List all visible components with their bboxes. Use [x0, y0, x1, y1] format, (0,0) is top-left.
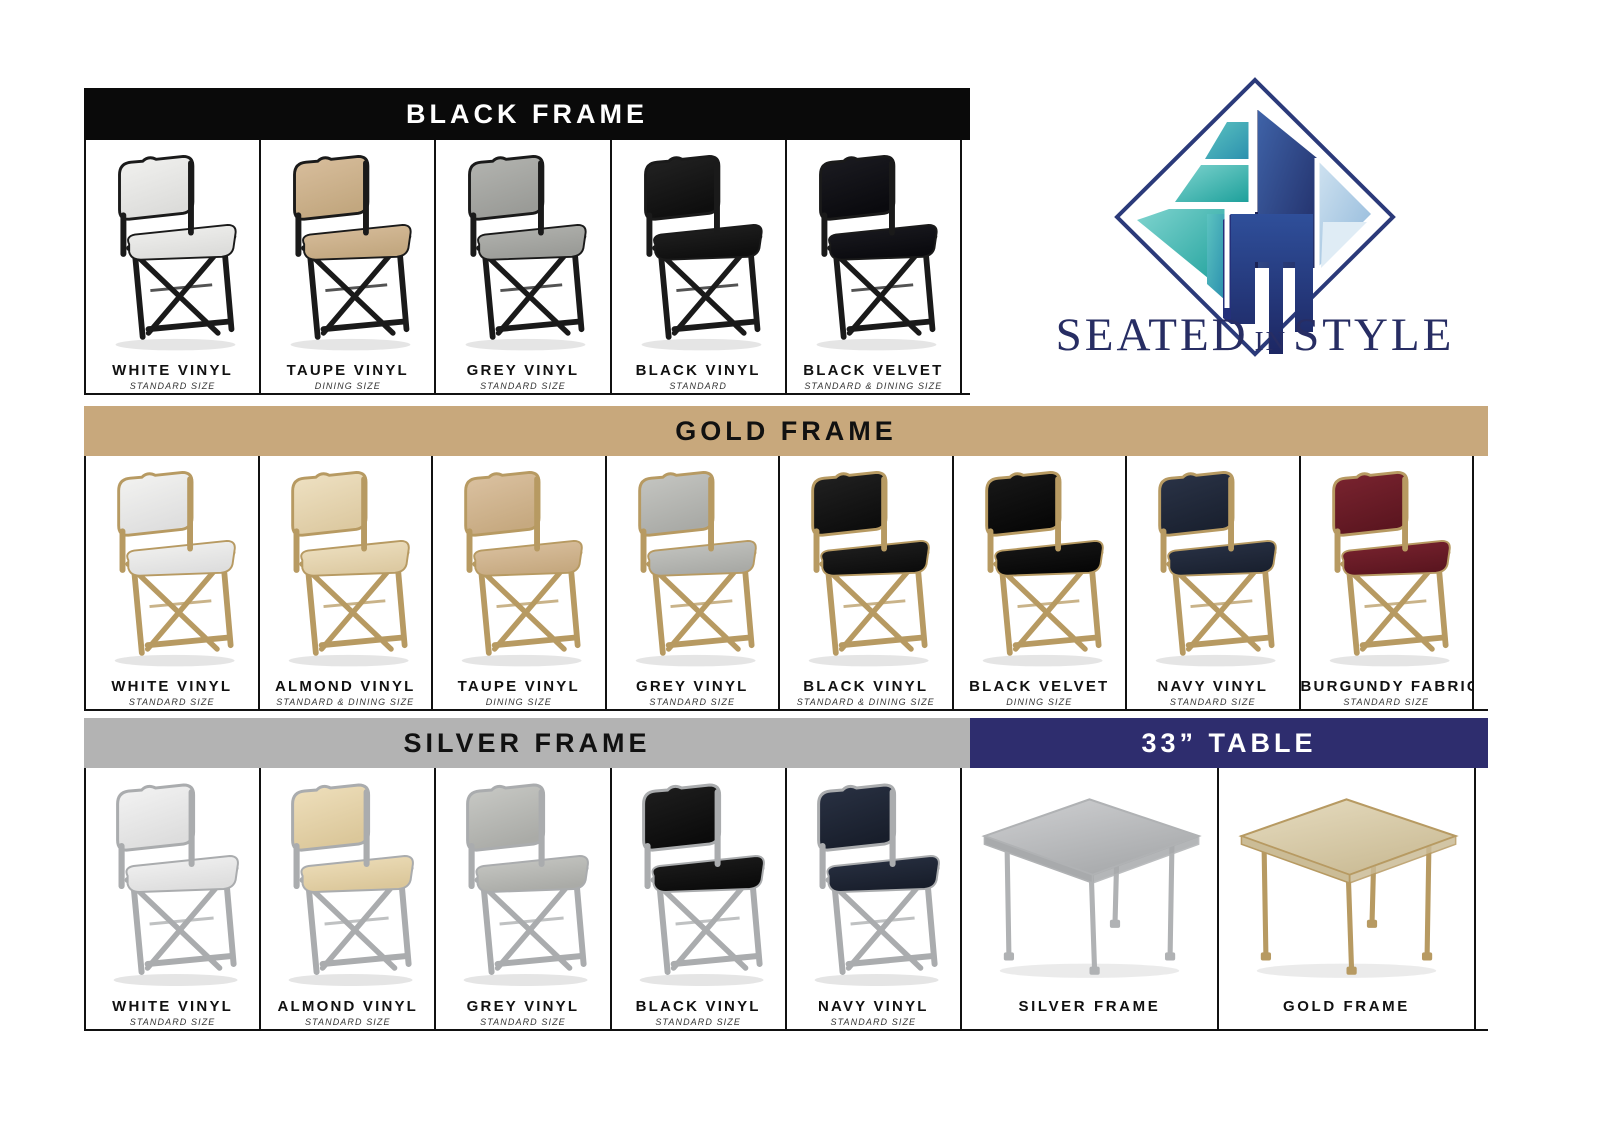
product-caption: TAUPE VINYL DINING SIZE — [433, 678, 605, 709]
product-thumbnail — [1127, 456, 1299, 678]
chair-image — [1127, 456, 1299, 678]
product-caption: GREY VINYL STANDARD SIZE — [436, 998, 609, 1029]
brand-name-part2: IN — [1249, 326, 1294, 356]
product-cell[interactable]: BLACK VELVET STANDARD & DINING SIZE — [785, 140, 962, 393]
product-caption: GREY VINYL STANDARD SIZE — [436, 362, 609, 393]
product-thumbnail — [607, 456, 779, 678]
product-size: STANDARD & DINING SIZE — [780, 697, 952, 707]
product-cell[interactable]: GREY VINYL STANDARD SIZE — [605, 456, 781, 709]
product-caption: BLACK VINYL STANDARD & DINING SIZE — [780, 678, 952, 709]
product-thumbnail — [260, 456, 432, 678]
chair-image — [607, 456, 779, 678]
product-cell[interactable]: ALMOND VINYL STANDARD & DINING SIZE — [258, 456, 434, 709]
product-cell[interactable]: WHITE VINYL STANDARD SIZE — [84, 140, 261, 393]
section-black-frame: BLACK FRAME — [84, 88, 970, 395]
product-cell[interactable]: BURGUNDY FABRIC STANDARD SIZE — [1299, 456, 1475, 709]
product-name: GREY VINYL — [607, 678, 779, 695]
product-size: STANDARD SIZE — [261, 1017, 434, 1027]
product-size: STANDARD & DINING SIZE — [260, 697, 432, 707]
product-caption: WHITE VINYL STANDARD SIZE — [86, 998, 259, 1029]
table-thumbnail — [962, 768, 1217, 998]
product-caption: WHITE VINYL STANDARD SIZE — [86, 678, 258, 709]
chair-image — [261, 768, 434, 998]
product-name: BLACK VINYL — [612, 998, 785, 1015]
product-caption: GREY VINYL STANDARD SIZE — [607, 678, 779, 709]
chair-image — [261, 140, 434, 362]
product-name: ALMOND VINYL — [261, 998, 434, 1015]
product-thumbnail — [787, 140, 960, 362]
section-header-black-frame: BLACK FRAME — [84, 88, 970, 140]
product-thumbnail — [261, 140, 434, 362]
chair-image — [787, 140, 960, 362]
section-gold-frame: GOLD FRAME — [84, 406, 1488, 711]
brand-name-part1: SEATED — [1056, 309, 1249, 361]
product-name: NAVY VINYL — [787, 998, 960, 1015]
product-size: STANDARD SIZE — [436, 1017, 609, 1027]
product-caption: BLACK VELVET DINING SIZE — [954, 678, 1126, 709]
product-size: DINING SIZE — [954, 697, 1126, 707]
product-size: STANDARD SIZE — [86, 1017, 259, 1027]
product-cell[interactable]: WHITE VINYL STANDARD SIZE — [84, 768, 261, 1029]
section-header-gold-frame: GOLD FRAME — [84, 406, 1488, 456]
product-size: STANDARD — [612, 381, 785, 391]
section-header-table: 33” TABLE — [970, 718, 1488, 768]
table-cell[interactable]: SILVER FRAME — [960, 768, 1219, 1029]
product-thumbnail — [787, 768, 960, 998]
table-caption: GOLD FRAME — [1219, 998, 1474, 1029]
brand-logo: SEATEDINSTYLE — [1055, 62, 1455, 382]
product-size: STANDARD SIZE — [436, 381, 609, 391]
product-caption: WHITE VINYL STANDARD SIZE — [86, 362, 259, 393]
product-name: TAUPE VINYL — [433, 678, 605, 695]
product-cell[interactable]: BLACK VINYL STANDARD — [610, 140, 787, 393]
chair-image — [433, 456, 605, 678]
product-size: STANDARD SIZE — [612, 1017, 785, 1027]
product-cell[interactable]: WHITE VINYL STANDARD SIZE — [84, 456, 260, 709]
product-caption: BLACK VINYL STANDARD — [612, 362, 785, 393]
chair-image — [436, 140, 609, 362]
product-cell[interactable]: NAVY VINYL STANDARD SIZE — [1125, 456, 1301, 709]
product-thumbnail — [954, 456, 1126, 678]
product-name: WHITE VINYL — [86, 678, 258, 695]
product-name: BLACK VINYL — [612, 362, 785, 379]
section-silver-and-table: SILVER FRAME 33” TABLE — [84, 718, 1488, 1031]
product-size: STANDARD SIZE — [1301, 697, 1473, 707]
product-name: BURGUNDY FABRIC — [1301, 678, 1473, 695]
chair-row-gold: WHITE VINYL STANDARD SIZE — [84, 456, 1488, 711]
chair-image — [954, 456, 1126, 678]
product-name: ALMOND VINYL — [260, 678, 432, 695]
product-cell[interactable]: GREY VINYL STANDARD SIZE — [434, 140, 611, 393]
product-size: STANDARD SIZE — [607, 697, 779, 707]
chair-image — [787, 768, 960, 998]
product-caption: BURGUNDY FABRIC STANDARD SIZE — [1301, 678, 1473, 709]
product-thumbnail — [261, 768, 434, 998]
product-cell[interactable]: BLACK VINYL STANDARD SIZE — [610, 768, 787, 1029]
product-cell[interactable]: TAUPE VINYL DINING SIZE — [431, 456, 607, 709]
product-name: BLACK VINYL — [780, 678, 952, 695]
table-name: SILVER FRAME — [962, 998, 1217, 1015]
product-name: BLACK VELVET — [787, 362, 960, 379]
table-cell[interactable]: GOLD FRAME — [1217, 768, 1476, 1029]
product-thumbnail — [433, 456, 605, 678]
product-name: NAVY VINYL — [1127, 678, 1299, 695]
table-image — [1219, 768, 1474, 998]
product-caption: ALMOND VINYL STANDARD SIZE — [261, 998, 434, 1029]
product-thumbnail — [612, 140, 785, 362]
product-thumbnail — [1301, 456, 1473, 678]
product-size: STANDARD SIZE — [86, 697, 258, 707]
product-size: DINING SIZE — [261, 381, 434, 391]
product-size: STANDARD SIZE — [1127, 697, 1299, 707]
product-caption: NAVY VINYL STANDARD SIZE — [1127, 678, 1299, 709]
chair-image — [780, 456, 952, 678]
chair-image — [86, 456, 258, 678]
product-cell[interactable]: NAVY VINYL STANDARD SIZE — [785, 768, 962, 1029]
product-caption: TAUPE VINYL DINING SIZE — [261, 362, 434, 393]
product-cell[interactable]: GREY VINYL STANDARD SIZE — [434, 768, 611, 1029]
table-caption: SILVER FRAME — [962, 998, 1217, 1029]
chair-image — [260, 456, 432, 678]
product-caption: NAVY VINYL STANDARD SIZE — [787, 998, 960, 1029]
chair-image — [436, 768, 609, 998]
product-caption: BLACK VINYL STANDARD SIZE — [612, 998, 785, 1029]
product-thumbnail — [436, 140, 609, 362]
product-thumbnail — [612, 768, 785, 998]
product-thumbnail — [86, 768, 259, 998]
product-size: STANDARD & DINING SIZE — [787, 381, 960, 391]
chair-image — [1301, 456, 1473, 678]
catalog-page: SEATEDINSTYLE BLACK FRAME — [0, 0, 1600, 1143]
product-size: DINING SIZE — [433, 697, 605, 707]
chair-image — [86, 140, 259, 362]
chair-image — [86, 768, 259, 998]
product-name: GREY VINYL — [436, 362, 609, 379]
product-thumbnail — [436, 768, 609, 998]
product-cell[interactable]: TAUPE VINYL DINING SIZE — [259, 140, 436, 393]
section-header-silver-frame: SILVER FRAME — [84, 718, 970, 768]
product-name: WHITE VINYL — [86, 362, 259, 379]
product-cell[interactable]: ALMOND VINYL STANDARD SIZE — [259, 768, 436, 1029]
product-thumbnail — [86, 140, 259, 362]
product-caption: BLACK VELVET STANDARD & DINING SIZE — [787, 362, 960, 393]
product-cell[interactable]: BLACK VINYL STANDARD & DINING SIZE — [778, 456, 954, 709]
product-name: BLACK VELVET — [954, 678, 1126, 695]
chair-image — [612, 768, 785, 998]
product-thumbnail — [86, 456, 258, 678]
product-name: TAUPE VINYL — [261, 362, 434, 379]
product-size: STANDARD SIZE — [86, 381, 259, 391]
product-caption: ALMOND VINYL STANDARD & DINING SIZE — [260, 678, 432, 709]
table-name: GOLD FRAME — [1219, 998, 1474, 1015]
table-thumbnail — [1219, 768, 1474, 998]
product-name: GREY VINYL — [436, 998, 609, 1015]
product-size: STANDARD SIZE — [787, 1017, 960, 1027]
chair-image — [612, 140, 785, 362]
brand-name-part3: STYLE — [1293, 309, 1454, 361]
product-name: WHITE VINYL — [86, 998, 259, 1015]
chair-row-black: WHITE VINYL STANDARD SIZE — [84, 140, 970, 395]
table-image — [962, 768, 1217, 998]
chair-row-silver: WHITE VINYL STANDARD SIZE — [84, 768, 1488, 1031]
product-thumbnail — [780, 456, 952, 678]
product-cell[interactable]: BLACK VELVET DINING SIZE — [952, 456, 1128, 709]
